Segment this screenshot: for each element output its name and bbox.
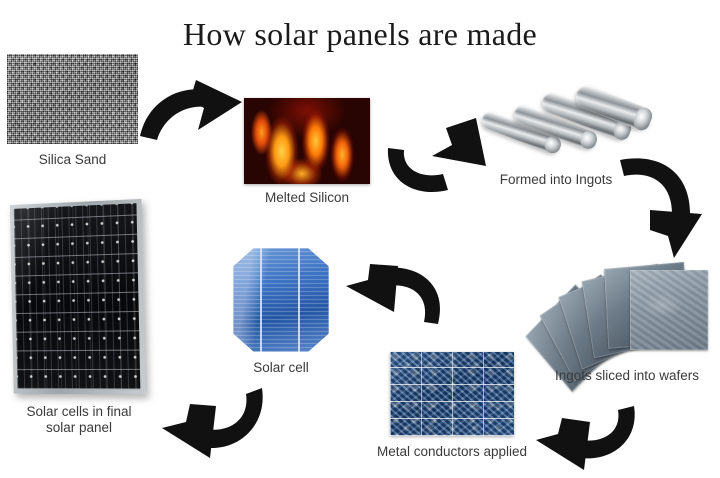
metal-conductors-image bbox=[390, 352, 514, 436]
sliced-wafers-image bbox=[546, 258, 712, 364]
silica-sand-caption: Silica Sand bbox=[0, 152, 145, 168]
page-title: How solar panels are made bbox=[0, 16, 720, 53]
arrow-cell-to-panel bbox=[158, 386, 266, 466]
silica-sand-image bbox=[7, 54, 138, 144]
busbar-line bbox=[298, 248, 300, 352]
panel-cell-grid bbox=[14, 203, 141, 389]
wafer-slice-front bbox=[630, 270, 708, 350]
arrow-sand-to-silicon bbox=[138, 78, 256, 160]
melted-silicon-caption: Melted Silicon bbox=[234, 190, 380, 206]
panel-contact-dots bbox=[14, 203, 141, 389]
melted-silicon-image bbox=[244, 98, 370, 184]
final-solar-panel-image bbox=[10, 199, 146, 394]
arrow-ingots-to-wafers bbox=[616, 152, 714, 262]
sliced-wafers-caption: Ingots sliced into wafers bbox=[534, 368, 720, 384]
metal-conductors-caption: Metal conductors applied bbox=[366, 444, 538, 460]
arrow-conductors-to-cell bbox=[340, 262, 446, 328]
formed-ingots-image bbox=[478, 92, 638, 168]
final-solar-panel-caption: Solar cells in final solar panel bbox=[0, 404, 158, 436]
solar-cell-caption: Solar cell bbox=[225, 360, 337, 376]
infographic-canvas: How solar panels are made Silica Sand Me… bbox=[0, 0, 720, 478]
arrow-wafers-to-conductors bbox=[528, 404, 638, 472]
solar-cell-image bbox=[233, 248, 329, 352]
busbar-line bbox=[260, 248, 262, 352]
